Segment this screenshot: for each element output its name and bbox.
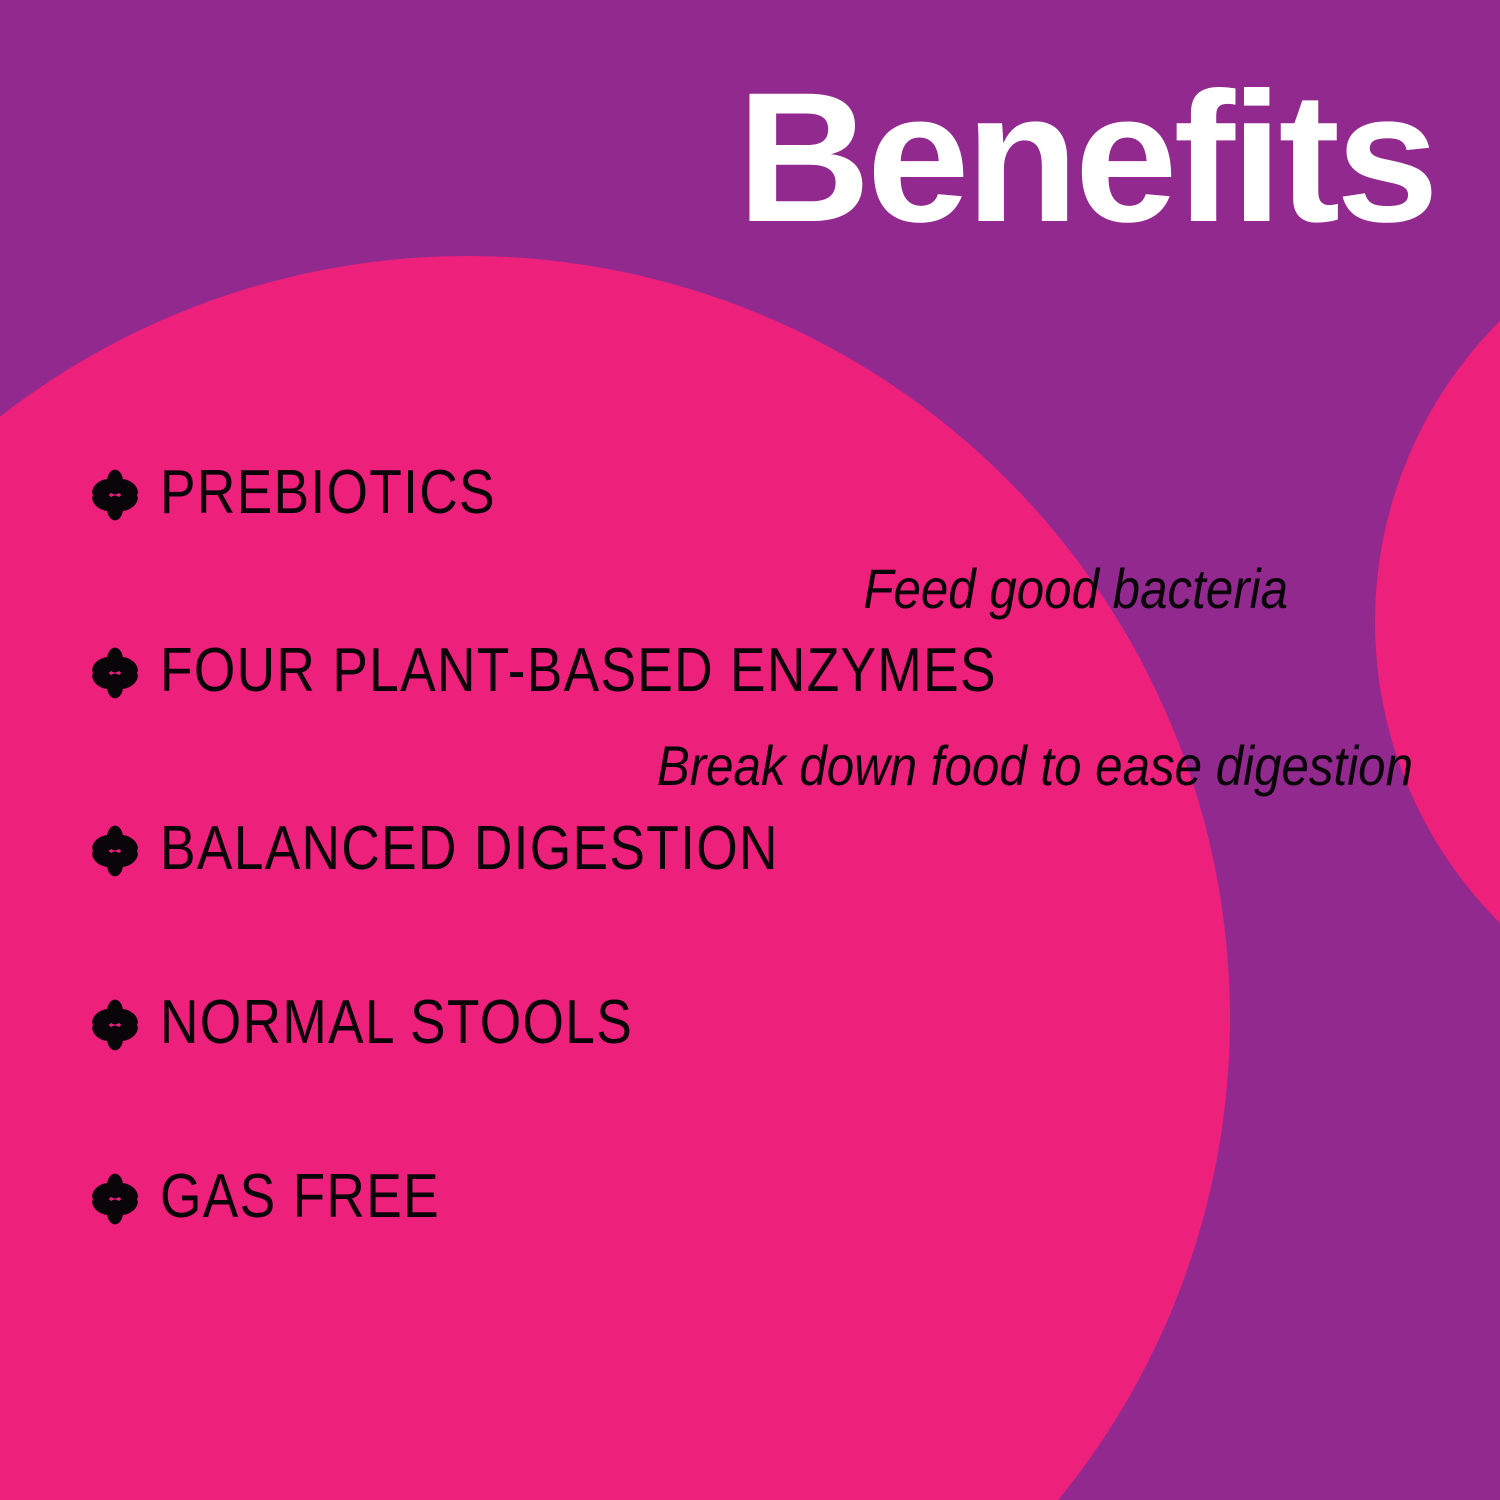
benefit-main-row: FOUR PLANT-BASED ENZYMES [88,640,1133,702]
benefit-label: BALANCED DIGESTION [160,818,779,880]
flower-bullet-icon [88,646,142,700]
page-title: Benefits [0,66,1435,251]
benefits-infographic: Benefits PR [0,0,1500,1500]
benefit-subtext: Feed good bacteria [232,561,1288,617]
list-item: FOUR PLANT-BASED ENZYMES [88,640,1133,702]
benefit-main-row: NORMAL STOOLS [88,992,710,1054]
list-item: BALANCED DIGESTION [88,818,879,880]
benefit-main-row: PREBIOTICS [88,462,551,524]
benefit-label: NORMAL STOOLS [160,992,633,1054]
benefit-label: GAS FREE [160,1166,440,1228]
benefit-main-row: GAS FREE [88,1166,486,1228]
benefit-label: FOUR PLANT-BASED ENZYMES [160,640,997,702]
flower-bullet-icon [88,998,142,1052]
flower-bullet-icon [88,1172,142,1226]
list-item: PREBIOTICS [88,462,551,524]
flower-bullet-icon [88,468,142,522]
flower-bullet-icon [88,824,142,878]
benefit-label: PREBIOTICS [160,462,496,524]
list-item: NORMAL STOOLS [88,992,710,1054]
benefit-main-row: BALANCED DIGESTION [88,818,879,880]
benefit-subtext: Break down food to ease digestion [247,738,1413,794]
list-item: GAS FREE [88,1166,486,1228]
